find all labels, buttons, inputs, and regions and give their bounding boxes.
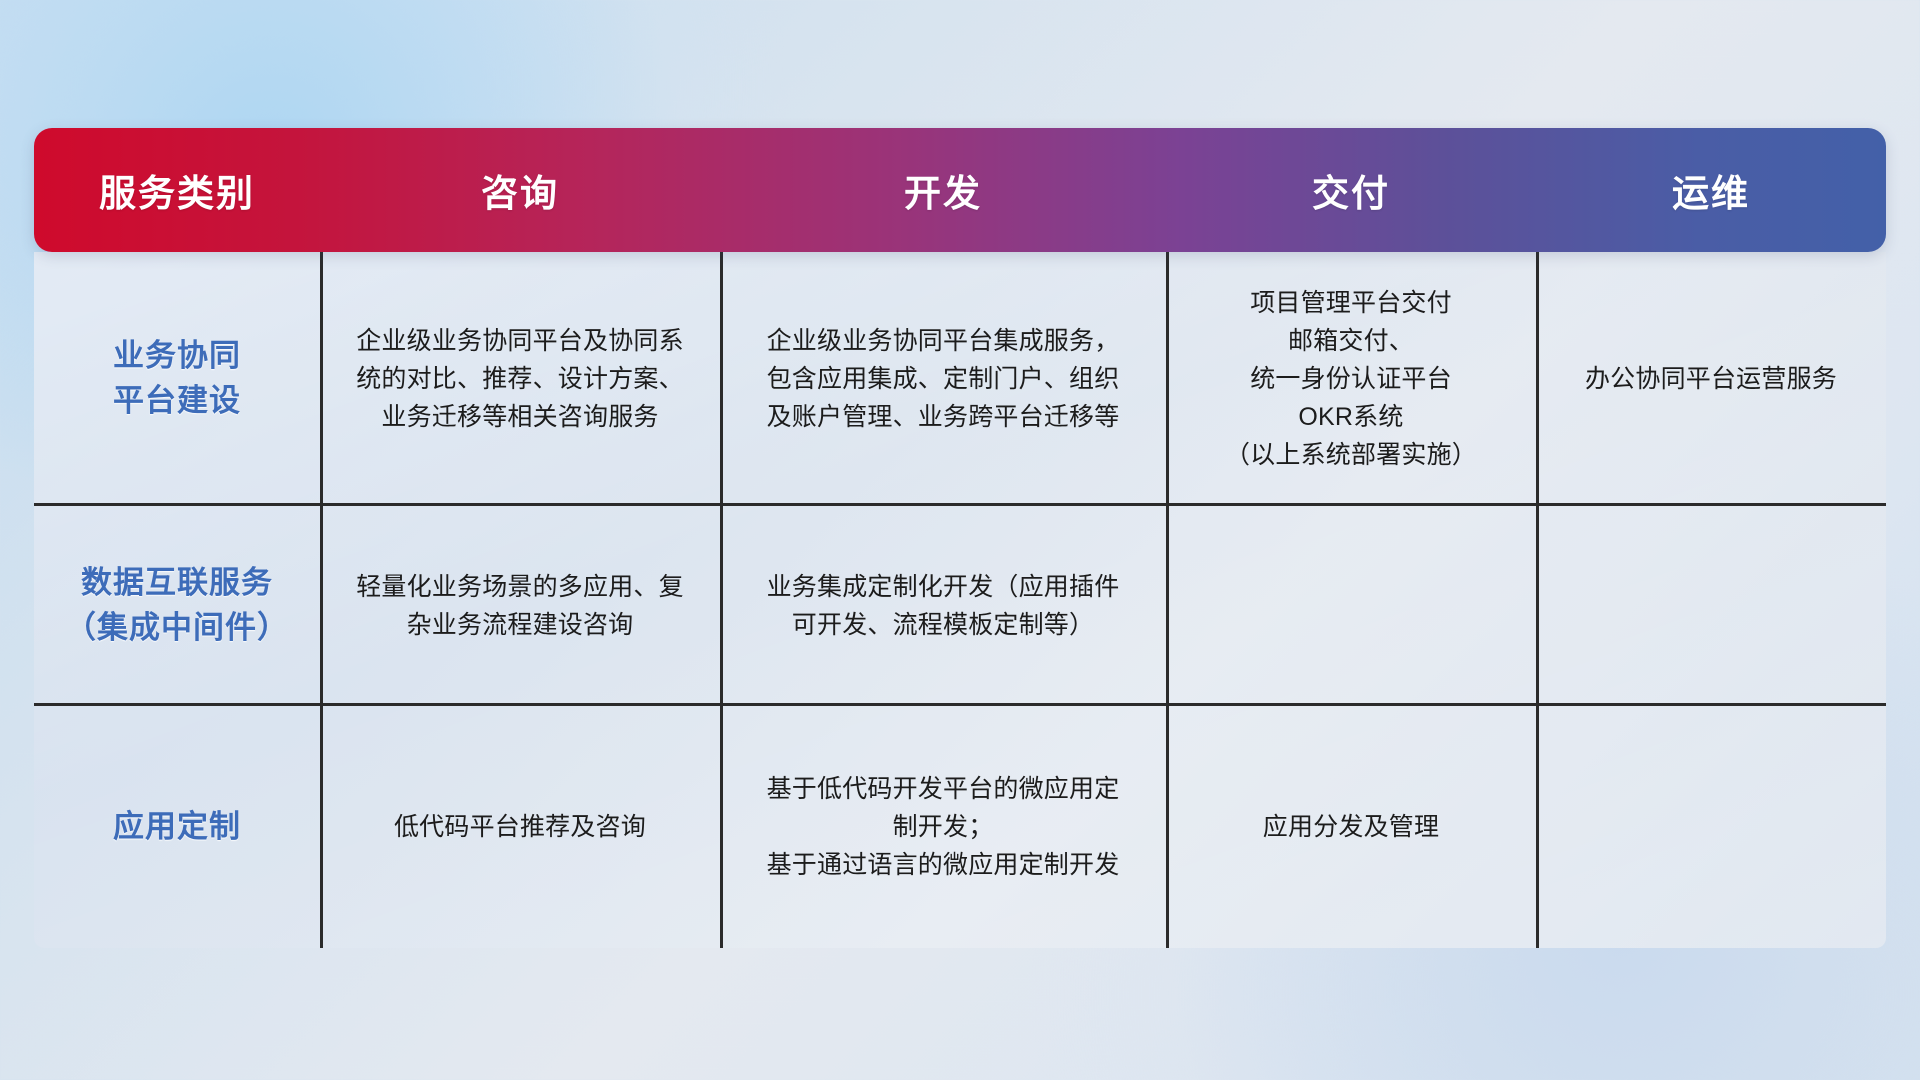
cell-consulting: 轻量化业务场景的多应用、复 杂业务流程建设咨询 [320,506,720,706]
cell-consulting: 企业级业务协同平台及协同系 统的对比、推荐、设计方案、 业务迁移等相关咨询服务 [320,252,720,506]
cell-category: 应用定制 [34,706,320,948]
column-header-delivery: 交付 [1166,128,1536,252]
cell-category: 数据互联服务 （集成中间件） [34,506,320,706]
cell-text: 应用分发及管理 [1263,808,1439,846]
category-label: 应用定制 [113,805,241,850]
cell-development: 业务集成定制化开发（应用插件 可开发、流程模板定制等） [720,506,1166,706]
cell-consulting: 低代码平台推荐及咨询 [320,706,720,948]
table-body: 业务协同 平台建设 企业级业务协同平台及协同系 统的对比、推荐、设计方案、 业务… [34,252,1886,948]
table-row: 应用定制 低代码平台推荐及咨询 基于低代码开发平台的微应用定 制开发； 基于通过… [34,706,1886,948]
cell-text: 轻量化业务场景的多应用、复 杂业务流程建设咨询 [356,568,684,644]
column-header-operations: 运维 [1536,128,1886,252]
cell-operations [1536,706,1886,948]
cell-text: 办公协同平台运营服务 [1585,360,1837,398]
cell-text: 业务集成定制化开发（应用插件 可开发、流程模板定制等） [767,568,1120,644]
cell-text: 项目管理平台交付 邮箱交付、 统一身份认证平台 OKR系统 （以上系统部署实施） [1225,284,1477,474]
cell-category: 业务协同 平台建设 [34,252,320,506]
cell-delivery: 项目管理平台交付 邮箱交付、 统一身份认证平台 OKR系统 （以上系统部署实施） [1166,252,1536,506]
column-header-category: 服务类别 [34,128,320,252]
cell-text: 低代码平台推荐及咨询 [394,808,646,846]
column-header-development: 开发 [720,128,1166,252]
cell-text: 企业级业务协同平台及协同系 统的对比、推荐、设计方案、 业务迁移等相关咨询服务 [356,322,684,436]
table-row: 业务协同 平台建设 企业级业务协同平台及协同系 统的对比、推荐、设计方案、 业务… [34,252,1886,506]
table-row: 数据互联服务 （集成中间件） 轻量化业务场景的多应用、复 杂业务流程建设咨询 业… [34,506,1886,706]
cell-text: 企业级业务协同平台集成服务， 包含应用集成、定制门户、组织 及账户管理、业务跨平… [767,322,1120,436]
cell-operations [1536,506,1886,706]
cell-text: 基于低代码开发平台的微应用定 制开发； 基于通过语言的微应用定制开发 [767,770,1120,884]
category-label: 业务协同 平台建设 [113,334,241,424]
cell-development: 基于低代码开发平台的微应用定 制开发； 基于通过语言的微应用定制开发 [720,706,1166,948]
cell-delivery [1166,506,1536,706]
service-matrix-table: 服务类别 咨询 开发 交付 运维 业务协同 平台建设 企业级业务协同平台及协同系… [34,128,1886,948]
cell-delivery: 应用分发及管理 [1166,706,1536,948]
table-header-row: 服务类别 咨询 开发 交付 运维 [34,128,1886,252]
cell-operations: 办公协同平台运营服务 [1536,252,1886,506]
column-header-consulting: 咨询 [320,128,720,252]
cell-development: 企业级业务协同平台集成服务， 包含应用集成、定制门户、组织 及账户管理、业务跨平… [720,252,1166,506]
category-label: 数据互联服务 （集成中间件） [65,561,289,651]
